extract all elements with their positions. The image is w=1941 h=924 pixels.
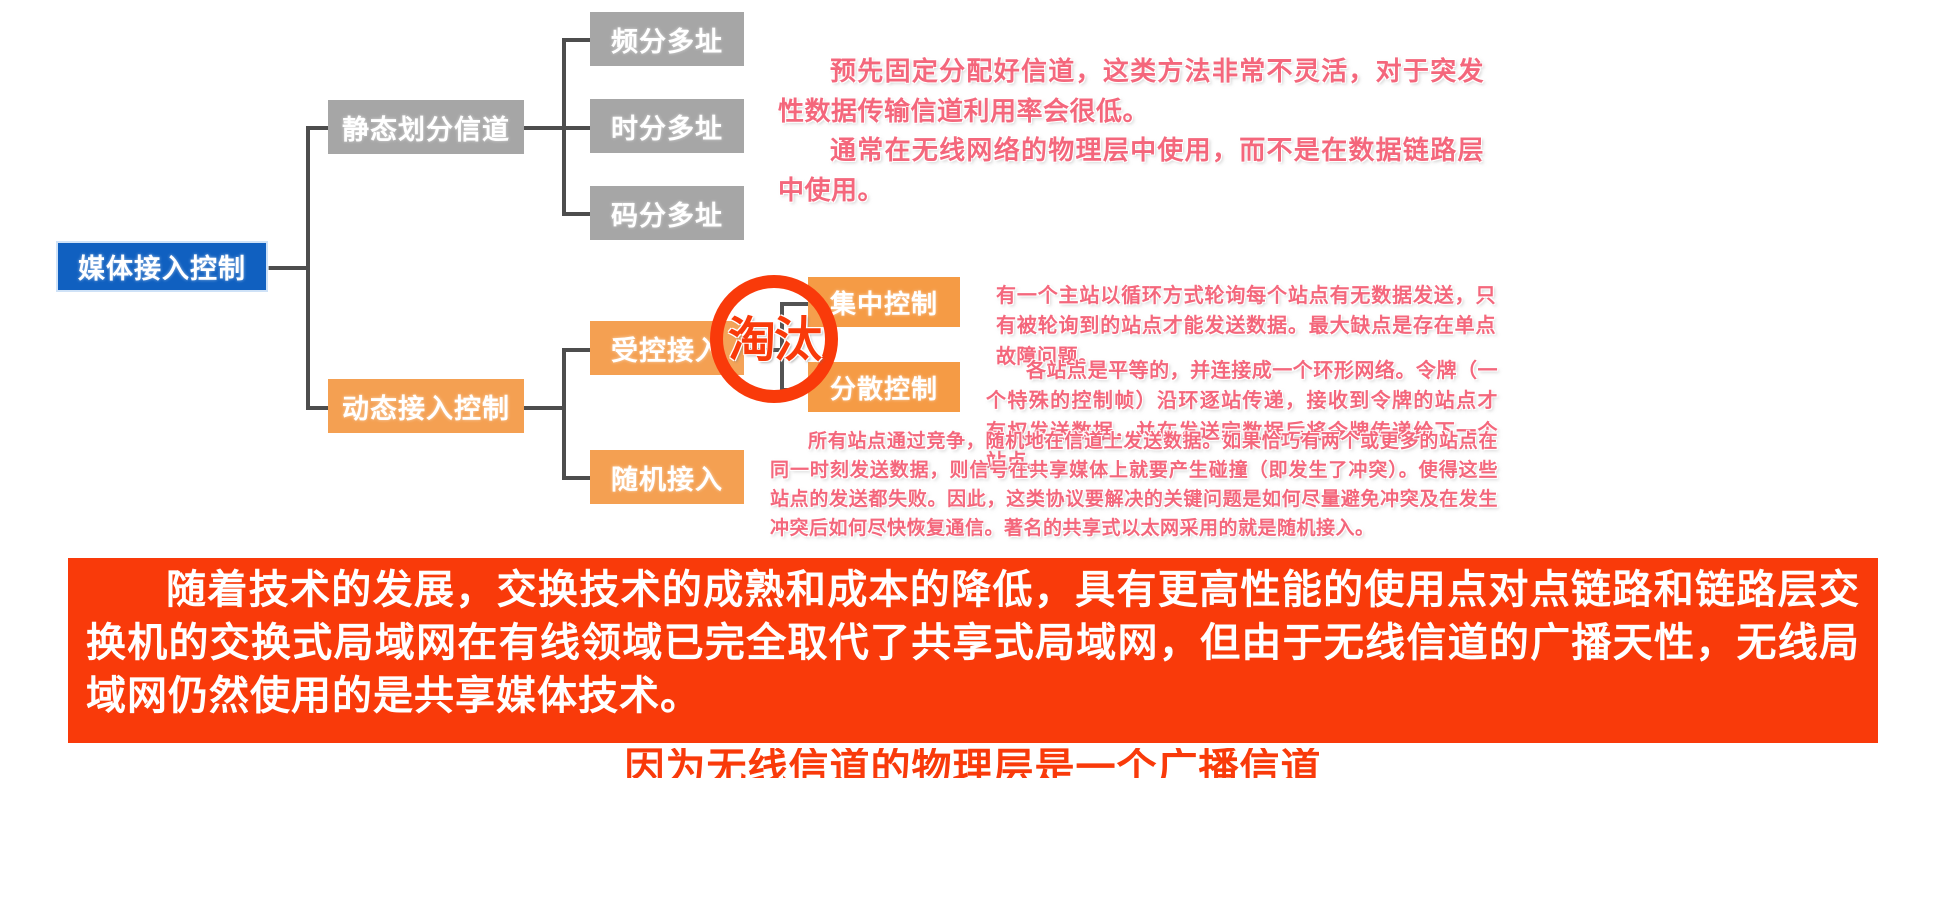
node-label: 随机接入 [611, 458, 723, 497]
node-distributed-control[interactable]: 分散控制 [808, 362, 960, 412]
connector-static-to-fdma [562, 38, 592, 42]
node-label: 动态接入控制 [342, 387, 510, 426]
node-random-access[interactable]: 随机接入 [590, 450, 744, 504]
annotation-static-channel: 预先固定分配好信道，这类方法非常不灵活，对于突发性数据传输信道利用率会很低。 通… [778, 52, 1484, 210]
banner-text: 随着技术的发展，交换技术的成熟和成本的降低，具有更高性能的使用点对点链路和链路层… [86, 564, 1860, 722]
annotation-line-2: 通常在无线网络的物理层中使用，而不是在数据链路层中使用。 [778, 131, 1484, 210]
node-label: 分散控制 [830, 369, 938, 406]
bottom-clipped-line: 因为无线信道的物理层是一个广播信道 [68, 748, 1878, 778]
bottom-red-banner: 随着技术的发展，交换技术的成熟和成本的降低，具有更高性能的使用点对点链路和链路层… [68, 558, 1878, 743]
connector-dynamic-spine [562, 348, 566, 478]
connector-dynamic-to-controlled [562, 348, 592, 352]
connector-root-stub [268, 266, 310, 270]
annotation-text: 所有站点通过竞争，随机地在信道上发送数据。如果恰巧有两个或更多的站点在同一时刻发… [770, 428, 1498, 544]
stamp-label: 淘汰 [728, 317, 820, 365]
connector-static-to-tdma [562, 126, 592, 130]
connector-static-stub [524, 126, 566, 130]
node-dynamic-access-control[interactable]: 动态接入控制 [328, 379, 524, 433]
banner-clipped-text: 因为无线信道的物理层是一个广播信道 [68, 748, 1878, 778]
node-static-channel-division[interactable]: 静态划分信道 [328, 100, 524, 154]
node-root-media-access-control[interactable]: 媒体接入控制 [56, 241, 268, 292]
node-cdma[interactable]: 码分多址 [590, 186, 744, 240]
connector-static-to-cdma [562, 212, 592, 216]
node-label: 码分多址 [611, 194, 723, 233]
node-label: 静态划分信道 [342, 108, 510, 147]
connector-root-spine [306, 126, 310, 410]
connector-dynamic-to-random [562, 476, 592, 480]
mindmap-canvas: 媒体接入控制 静态划分信道 频分多址 时分多址 码分多址 动态接入控制 受控接入… [0, 0, 1941, 924]
connector-dynamic-stub [524, 406, 566, 410]
node-label: 集中控制 [830, 284, 938, 321]
node-label: 媒体接入控制 [78, 247, 246, 286]
node-label: 频分多址 [611, 20, 723, 59]
obsolete-stamp-icon: 淘汰 [710, 275, 838, 403]
node-tdma[interactable]: 时分多址 [590, 99, 744, 153]
node-label: 受控接入 [611, 329, 723, 368]
node-fdma[interactable]: 频分多址 [590, 12, 744, 66]
annotation-line-1: 预先固定分配好信道，这类方法非常不灵活，对于突发性数据传输信道利用率会很低。 [778, 52, 1484, 131]
annotation-random-access: 所有站点通过竞争，随机地在信道上发送数据。如果恰巧有两个或更多的站点在同一时刻发… [770, 428, 1498, 544]
node-label: 时分多址 [611, 107, 723, 146]
